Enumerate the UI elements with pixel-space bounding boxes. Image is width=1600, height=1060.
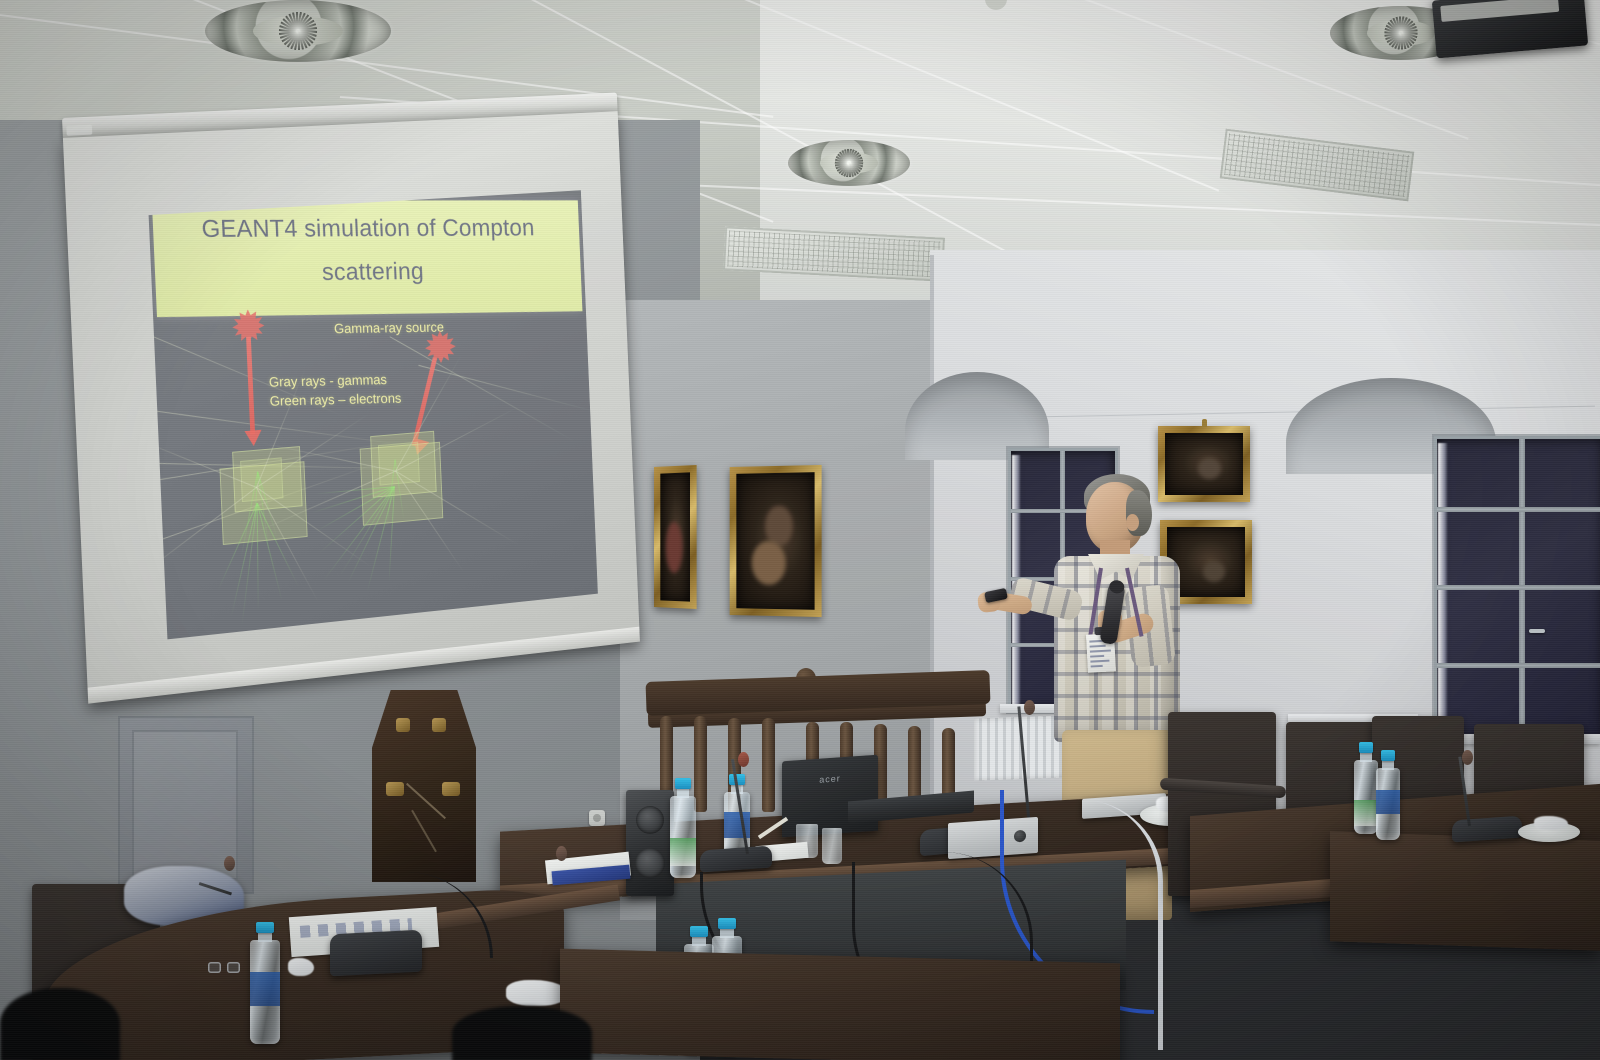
microphone-head bbox=[1462, 750, 1473, 765]
water-bottle-blue-cap bbox=[250, 940, 280, 1044]
slide-legend-gamma: Gray rays - gammas bbox=[268, 371, 387, 392]
water-bottle-green-label bbox=[670, 796, 696, 878]
slide-title-line1: GEANT4 simulation of Compton bbox=[152, 200, 580, 245]
slide-title-line2: scattering bbox=[154, 243, 582, 290]
tissues bbox=[1534, 816, 1568, 830]
window-right-wall bbox=[1434, 436, 1600, 742]
antique-cabinet bbox=[372, 690, 476, 882]
tissues bbox=[506, 980, 568, 1006]
audience-head-silhouette bbox=[452, 1006, 592, 1060]
painting-far-wall-right bbox=[730, 465, 822, 617]
microphone-head bbox=[224, 856, 235, 871]
presentation-slide: GEANT4 simulation of Compton scattering … bbox=[149, 190, 598, 639]
baluster bbox=[762, 718, 775, 812]
slide-title-band: GEANT4 simulation of Compton scattering bbox=[152, 200, 583, 317]
audience-shoulder-silhouette bbox=[0, 988, 120, 1060]
air-diffuser-icon bbox=[205, 0, 391, 62]
screen-surface: GEANT4 simulation of Compton scattering … bbox=[63, 111, 640, 703]
painting-far-wall-left bbox=[654, 465, 697, 609]
gamma-beam-left bbox=[246, 337, 255, 435]
table-right-front bbox=[1330, 831, 1600, 950]
laptop-brand-label: acer bbox=[819, 773, 841, 785]
tissues bbox=[288, 958, 314, 976]
plastic-cup bbox=[822, 828, 842, 864]
projection-screen: GEANT4 simulation of Compton scattering … bbox=[62, 92, 644, 715]
foreground-table-front bbox=[560, 949, 1120, 1060]
microphone-head bbox=[556, 846, 567, 861]
pc-speaker bbox=[626, 790, 674, 896]
wall-power-socket[interactable] bbox=[589, 810, 605, 826]
air-diffuser-icon bbox=[788, 140, 910, 186]
eyeglasses bbox=[208, 962, 242, 974]
ear bbox=[1126, 514, 1139, 531]
microphone-head bbox=[1024, 700, 1035, 715]
wall-corner-edge bbox=[930, 255, 934, 815]
photo-scene: GEANT4 simulation of Compton scattering … bbox=[0, 0, 1600, 1060]
water-bottle-green-label bbox=[1354, 760, 1378, 834]
gamma-beam-arrow-left bbox=[245, 430, 263, 447]
water-bottle-blue-cap bbox=[1376, 768, 1400, 840]
slide-source-label: Gamma-ray source bbox=[334, 318, 445, 338]
baluster bbox=[694, 716, 707, 812]
microphone-head bbox=[738, 752, 749, 767]
